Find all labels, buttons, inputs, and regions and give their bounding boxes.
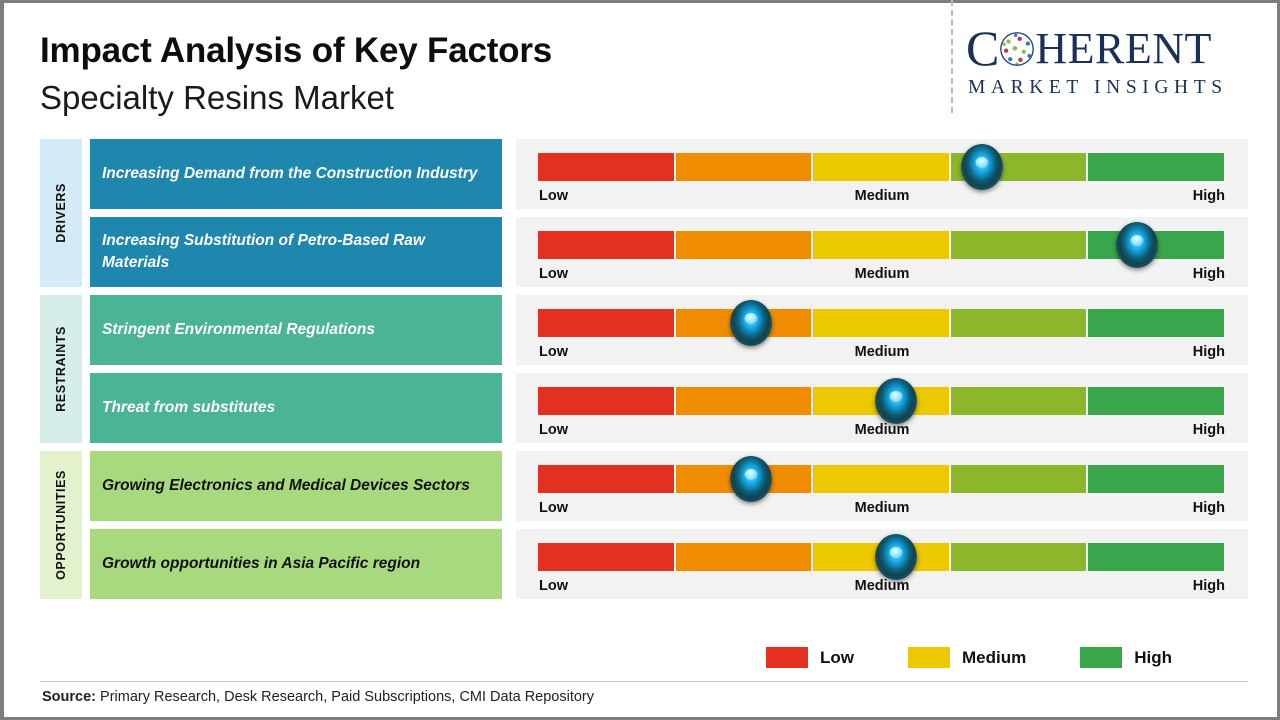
factor-row: Increasing Demand from the Construction … bbox=[90, 139, 1280, 209]
logo-wordmark: C HERENT bbox=[966, 25, 1266, 71]
gauge-scale-labels: LowMediumHigh bbox=[538, 188, 1226, 204]
legend-label: Medium bbox=[962, 648, 1026, 668]
logo-letter-c: C bbox=[966, 25, 1000, 71]
gauge-segment-2 bbox=[676, 231, 812, 259]
gauge-segment-1 bbox=[538, 231, 674, 259]
gauge-segment-4 bbox=[951, 465, 1087, 493]
group-label-text: OPPORTUNITIES bbox=[54, 470, 68, 580]
factor-row: Threat from substitutesLowMediumHigh bbox=[90, 373, 1280, 443]
gauge-segment-3 bbox=[813, 153, 949, 181]
gauge-segment-3 bbox=[813, 231, 949, 259]
gauge-segment-5 bbox=[1088, 543, 1224, 571]
group-label-opportunities: OPPORTUNITIES bbox=[40, 451, 82, 599]
gauge-segment-2 bbox=[676, 387, 812, 415]
gauge-segment-5 bbox=[1088, 153, 1224, 181]
gauge-segment-4 bbox=[951, 309, 1087, 337]
factor-row: Increasing Substitution of Petro-Based R… bbox=[90, 217, 1280, 287]
factor-label: Growing Electronics and Medical Devices … bbox=[90, 451, 502, 521]
gauge-bar bbox=[538, 231, 1226, 259]
coherent-market-insights-logo: C HERENT MARKET INSIGHTS bbox=[966, 25, 1266, 107]
factor-label: Increasing Substitution of Petro-Based R… bbox=[90, 217, 502, 287]
scale-label-high: High bbox=[1193, 578, 1225, 594]
gauge-segment-2 bbox=[676, 153, 812, 181]
gauge-bar bbox=[538, 387, 1226, 415]
scale-label-low: Low bbox=[539, 422, 568, 438]
group-rows: Growing Electronics and Medical Devices … bbox=[90, 451, 1280, 599]
scale-label-low: Low bbox=[539, 500, 568, 516]
impact-gauge: LowMediumHigh bbox=[516, 373, 1248, 443]
scale-label-high: High bbox=[1193, 344, 1225, 360]
gauge-segment-4 bbox=[951, 231, 1087, 259]
gauge-segment-1 bbox=[538, 153, 674, 181]
source-label: Source: bbox=[42, 689, 96, 705]
group-rows: Stringent Environmental RegulationsLowMe… bbox=[90, 295, 1280, 443]
factor-group: DRIVERSIncreasing Demand from the Constr… bbox=[4, 139, 1280, 287]
gauge-segment-1 bbox=[538, 543, 674, 571]
gauge-bar bbox=[538, 309, 1226, 337]
gauge-bar bbox=[538, 465, 1226, 493]
scale-label-medium: Medium bbox=[855, 188, 910, 204]
scale-label-low: Low bbox=[539, 344, 568, 360]
gauge-segment-1 bbox=[538, 387, 674, 415]
page-subtitle: Specialty Resins Market bbox=[40, 76, 552, 120]
factor-group: RESTRAINTSStringent Environmental Regula… bbox=[4, 295, 1280, 443]
gauge-segment-2 bbox=[676, 543, 812, 571]
factor-label: Threat from substitutes bbox=[90, 373, 502, 443]
legend-swatch-medium bbox=[908, 647, 950, 668]
header-dashed-divider bbox=[951, 0, 953, 113]
legend-item: High bbox=[1080, 647, 1172, 668]
scale-label-low: Low bbox=[539, 266, 568, 282]
factor-label: Growth opportunities in Asia Pacific reg… bbox=[90, 529, 502, 599]
title-block: Impact Analysis of Key Factors Specialty… bbox=[40, 29, 552, 120]
impact-marker[interactable] bbox=[961, 144, 1003, 190]
legend-swatch-low bbox=[766, 647, 808, 668]
page-title: Impact Analysis of Key Factors bbox=[40, 29, 552, 73]
gauge-segment-4 bbox=[951, 387, 1087, 415]
logo-tagline: MARKET INSIGHTS bbox=[966, 77, 1266, 99]
scale-label-high: High bbox=[1193, 422, 1225, 438]
logo-word-rest: HERENT bbox=[1035, 23, 1212, 74]
gauge-scale-labels: LowMediumHigh bbox=[538, 500, 1226, 516]
scale-label-medium: Medium bbox=[855, 500, 910, 516]
source-text: Primary Research, Desk Research, Paid Su… bbox=[96, 689, 594, 705]
gauge-segment-3 bbox=[813, 309, 949, 337]
slide-header: Impact Analysis of Key Factors Specialty… bbox=[4, 3, 1280, 133]
scale-label-medium: Medium bbox=[855, 344, 910, 360]
gauge-segment-1 bbox=[538, 309, 674, 337]
scale-label-high: High bbox=[1193, 188, 1225, 204]
gauge-segment-1 bbox=[538, 465, 674, 493]
factor-label: Stringent Environmental Regulations bbox=[90, 295, 502, 365]
gauge-segment-4 bbox=[951, 543, 1087, 571]
scale-label-high: High bbox=[1193, 500, 1225, 516]
legend-swatch-high bbox=[1080, 647, 1122, 668]
globe-dots-icon bbox=[1000, 32, 1034, 66]
impact-marker[interactable] bbox=[1116, 222, 1158, 268]
group-label-restraints: RESTRAINTS bbox=[40, 295, 82, 443]
impact-gauge: LowMediumHigh bbox=[516, 295, 1248, 365]
impact-marker[interactable] bbox=[730, 300, 772, 346]
impact-matrix: DRIVERSIncreasing Demand from the Constr… bbox=[4, 139, 1280, 607]
gauge-scale-labels: LowMediumHigh bbox=[538, 266, 1226, 282]
group-label-drivers: DRIVERS bbox=[40, 139, 82, 287]
scale-label-medium: Medium bbox=[855, 578, 910, 594]
gauge-segment-5 bbox=[1088, 465, 1224, 493]
gauge-scale-labels: LowMediumHigh bbox=[538, 344, 1226, 360]
gauge-scale-labels: LowMediumHigh bbox=[538, 578, 1226, 594]
gauge-segment-5 bbox=[1088, 309, 1224, 337]
legend-label: High bbox=[1134, 648, 1172, 668]
group-rows: Increasing Demand from the Construction … bbox=[90, 139, 1280, 287]
scale-label-medium: Medium bbox=[855, 266, 910, 282]
gauge-scale-labels: LowMediumHigh bbox=[538, 422, 1226, 438]
group-label-text: DRIVERS bbox=[54, 183, 68, 243]
factor-group: OPPORTUNITIESGrowing Electronics and Med… bbox=[4, 451, 1280, 599]
gauge-bar bbox=[538, 153, 1226, 181]
group-label-text: RESTRAINTS bbox=[54, 326, 68, 412]
impact-marker[interactable] bbox=[875, 378, 917, 424]
impact-gauge: LowMediumHigh bbox=[516, 529, 1248, 599]
source-note: Source: Primary Research, Desk Research,… bbox=[42, 689, 594, 705]
impact-marker[interactable] bbox=[875, 534, 917, 580]
scale-label-medium: Medium bbox=[855, 422, 910, 438]
factor-row: Stringent Environmental RegulationsLowMe… bbox=[90, 295, 1280, 365]
gauge-segment-3 bbox=[813, 465, 949, 493]
legend-item: Low bbox=[766, 647, 854, 668]
impact-gauge: LowMediumHigh bbox=[516, 217, 1248, 287]
gauge-segment-5 bbox=[1088, 387, 1224, 415]
legend: LowMediumHigh bbox=[766, 647, 1172, 668]
factor-label: Increasing Demand from the Construction … bbox=[90, 139, 502, 209]
scale-label-low: Low bbox=[539, 188, 568, 204]
footer-divider bbox=[40, 681, 1248, 682]
impact-gauge: LowMediumHigh bbox=[516, 451, 1248, 521]
gauge-bar bbox=[538, 543, 1226, 571]
scale-label-high: High bbox=[1193, 266, 1225, 282]
factor-row: Growing Electronics and Medical Devices … bbox=[90, 451, 1280, 521]
factor-row: Growth opportunities in Asia Pacific reg… bbox=[90, 529, 1280, 599]
slide-canvas: Impact Analysis of Key Factors Specialty… bbox=[0, 0, 1280, 720]
scale-label-low: Low bbox=[539, 578, 568, 594]
impact-gauge: LowMediumHigh bbox=[516, 139, 1248, 209]
impact-marker[interactable] bbox=[730, 456, 772, 502]
legend-label: Low bbox=[820, 648, 854, 668]
legend-item: Medium bbox=[908, 647, 1026, 668]
